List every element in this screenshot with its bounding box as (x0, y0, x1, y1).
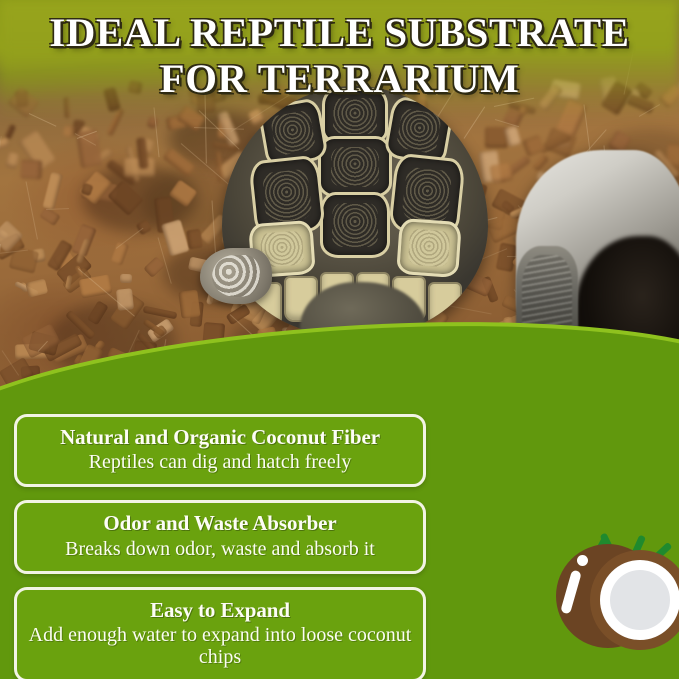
feature-box-1: Natural and Organic Coconut Fiber Reptil… (14, 414, 426, 487)
tortoise-scute (396, 218, 462, 278)
page-title: IDEAL REPTILE SUBSTRATE FOR TERRARIUM (0, 0, 679, 104)
feature-box-2: Odor and Waste Absorber Breaks down odor… (14, 500, 426, 573)
feature-description: Reptiles can dig and hatch freely (27, 451, 413, 473)
coconut-inner (610, 570, 670, 630)
feature-title: Natural and Organic Coconut Fiber (27, 426, 413, 448)
tortoise-photo (222, 86, 488, 358)
feature-box-3: Easy to Expand Add enough water to expan… (14, 587, 426, 679)
tortoise-scute (320, 192, 390, 258)
coconut-highlight-dot (577, 555, 588, 566)
feature-title: Easy to Expand (27, 599, 413, 621)
tortoise-foot (200, 248, 272, 304)
feature-description: Breaks down odor, waste and absorb it (27, 538, 413, 560)
feature-description: Add enough water to expand into loose co… (27, 624, 413, 668)
feature-list: Natural and Organic Coconut Fiber Reptil… (14, 414, 426, 679)
tortoise-scute (318, 136, 392, 198)
feature-title: Odor and Waste Absorber (27, 512, 413, 534)
coconut-icon (556, 528, 679, 666)
title-line-2: FOR TERRARIUM (0, 56, 679, 102)
title-line-1: IDEAL REPTILE SUBSTRATE (0, 10, 679, 56)
product-infographic: IDEAL REPTILE SUBSTRATE FOR TERRARIUM Na… (0, 0, 679, 679)
